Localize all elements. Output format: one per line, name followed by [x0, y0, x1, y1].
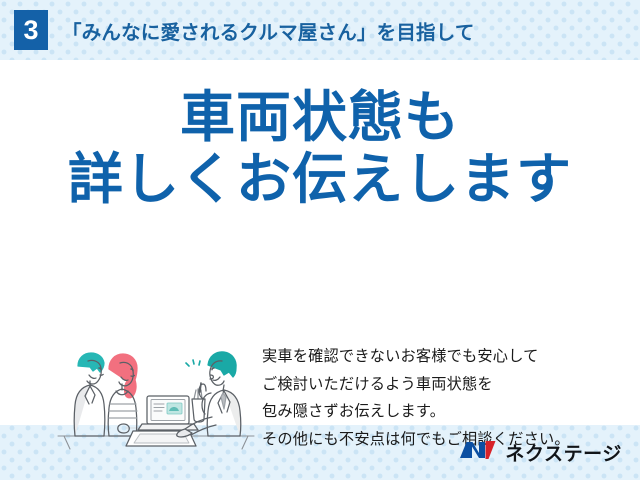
customer-man: [74, 353, 105, 436]
body-copy-line-2: ご検討いただけるよう車両状態を: [262, 371, 612, 399]
nextage-logo-icon: [459, 438, 497, 467]
headline: 車両状態も 詳しくお伝えします: [0, 88, 640, 209]
brand-name: ネクステージ: [505, 439, 622, 466]
body-copy-line-1: 実車を確認できないお客様でも安心して: [262, 343, 612, 371]
banner-header: 3 「みんなに愛されるクルマ屋さん」を目指して: [0, 0, 640, 60]
body-copy-line-3: 包み隠さずお伝えします。: [262, 398, 612, 426]
header-title: 「みんなに愛されるクルマ屋さん」を目指して: [62, 16, 475, 45]
customer-woman: [108, 354, 137, 436]
promo-banner: 3 「みんなに愛されるクルマ屋さん」を目指して 車両状態も 詳しくお伝えします: [0, 0, 640, 480]
speech-marks: [186, 360, 200, 366]
pen-holder: [192, 389, 205, 422]
brand-lockup: ネクステージ: [459, 438, 622, 467]
banner-footer: ネクステージ: [0, 425, 640, 480]
headline-line-2: 詳しくお伝えします: [0, 150, 640, 208]
section-number-badge: 3: [14, 10, 48, 50]
content-card: 車両状態も 詳しくお伝えします: [0, 60, 640, 425]
headline-line-1: 車両状態も: [0, 88, 640, 146]
